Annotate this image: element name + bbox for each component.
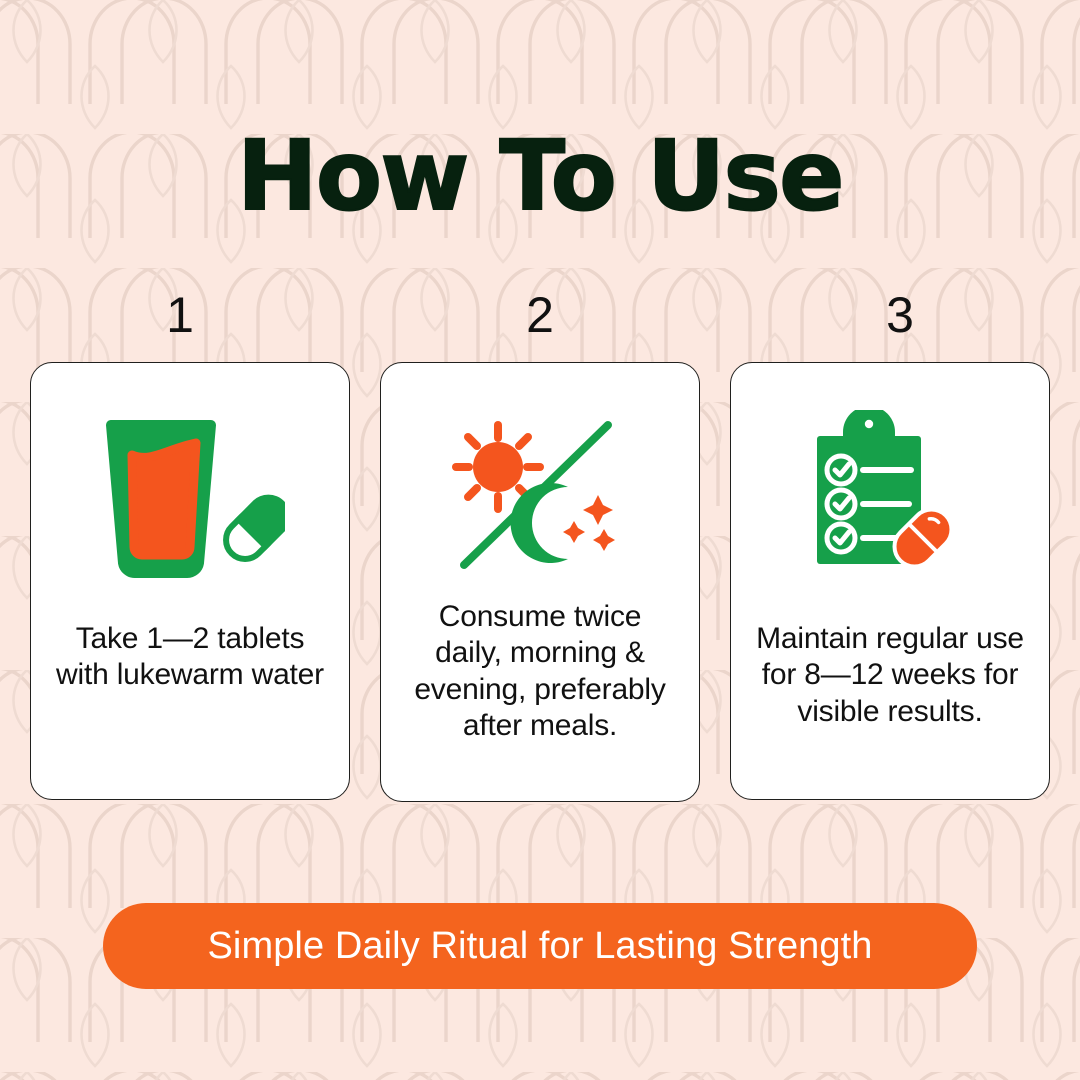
step-number-1: 1 bbox=[166, 290, 194, 340]
step-2-icon-wrap bbox=[381, 413, 699, 581]
page-title: How To Use bbox=[0, 128, 1080, 224]
step-number-row: 1 2 3 bbox=[0, 288, 1080, 342]
step-number-slot-2: 2 bbox=[360, 288, 720, 342]
steps-card-row: Take 1—2 tablets with lukewarm water bbox=[30, 362, 1050, 802]
step-card-2[interactable]: Consume twice daily, morning & evening, … bbox=[380, 362, 700, 802]
tagline-text: Simple Daily Ritual for Lasting Strength bbox=[207, 925, 872, 968]
step-number-slot-3: 3 bbox=[720, 288, 1080, 342]
checklist-clipboard-with-capsule-icon bbox=[805, 410, 975, 586]
step-3-text: Maintain regular use for 8—12 weeks for … bbox=[731, 621, 1049, 730]
step-1-icon-wrap bbox=[31, 407, 349, 593]
step-1-text: Take 1—2 tablets with lukewarm water bbox=[31, 621, 349, 694]
step-number-2: 2 bbox=[526, 290, 554, 340]
step-2-text: Consume twice daily, morning & evening, … bbox=[381, 599, 699, 744]
step-number-slot-1: 1 bbox=[0, 288, 360, 342]
step-3-icon-wrap bbox=[731, 407, 1049, 589]
step-card-3[interactable]: Maintain regular use for 8—12 weeks for … bbox=[730, 362, 1050, 800]
sun-and-moon-icon bbox=[448, 417, 632, 577]
tagline-banner[interactable]: Simple Daily Ritual for Lasting Strength bbox=[103, 903, 977, 989]
step-card-1[interactable]: Take 1—2 tablets with lukewarm water bbox=[30, 362, 350, 800]
poster-root: How To Use 1 2 3 bbox=[0, 0, 1080, 1080]
step-number-3: 3 bbox=[886, 290, 914, 340]
glass-of-water-with-tablet-icon bbox=[95, 415, 285, 585]
